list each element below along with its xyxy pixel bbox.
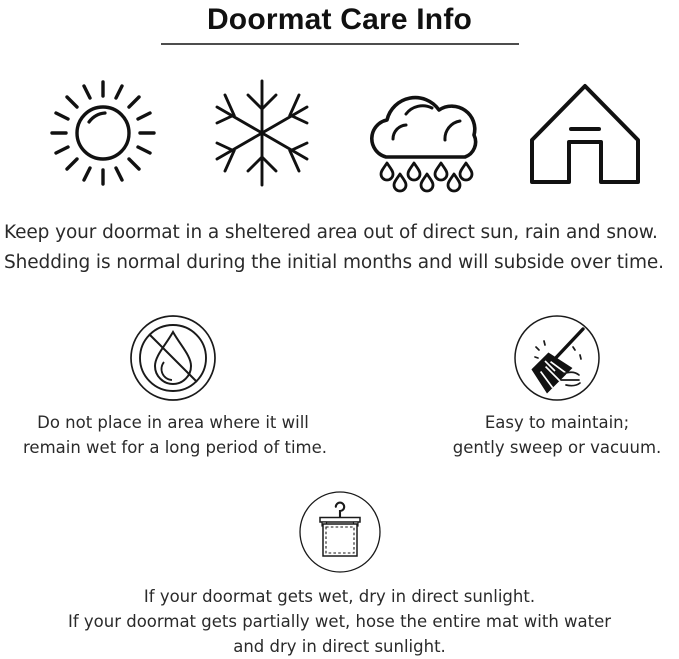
rain-cloud-icon	[362, 77, 484, 189]
hanging-mat-icon	[298, 490, 382, 574]
house-icon	[527, 78, 643, 188]
sweep-caption-line-1: Easy to maintain;	[407, 410, 679, 435]
hanging-mat-icon-wrap	[0, 484, 679, 580]
no-water-caption-line-1: Do not place in area where it will	[23, 410, 323, 435]
sweep-caption: Easy to maintain; gently sweep or vacuum…	[407, 410, 679, 460]
snowflake-icon	[212, 77, 312, 189]
sweep-caption-line-2: gently sweep or vacuum.	[407, 435, 679, 460]
drying-caption-line-1: If your doormat gets wet, dry in direct …	[0, 584, 679, 609]
title-block: Doormat Care Info	[0, 0, 679, 45]
intro-paragraph: Keep your doormat in a sheltered area ou…	[4, 218, 676, 278]
snowflake-icon-cell	[192, 70, 332, 195]
sun-icon	[49, 78, 157, 188]
no-water-caption-line-2: remain wet for a long period of time.	[23, 435, 323, 460]
no-water-icon-wrap	[23, 312, 323, 404]
drying-caption-line-3: and dry in direct sunlight.	[0, 634, 679, 659]
drying-caption-line-2: If your doormat gets partially wet, hose…	[0, 609, 679, 634]
drying-caption: If your doormat gets wet, dry in direct …	[0, 584, 679, 659]
page-title: Doormat Care Info	[0, 2, 679, 38]
rain-cloud-icon-cell	[353, 70, 493, 195]
title-underline-rule	[161, 43, 519, 45]
intro-line-2: Shedding is normal during the initial mo…	[4, 248, 676, 278]
weather-icon-row	[0, 70, 679, 195]
drying-section: If your doormat gets wet, dry in direct …	[0, 484, 679, 659]
care-item-sweep: Easy to maintain; gently sweep or vacuum…	[407, 312, 679, 460]
no-water-icon	[129, 314, 217, 402]
care-item-no-water: Do not place in area where it will remai…	[23, 312, 323, 460]
house-icon-cell	[515, 70, 655, 195]
sun-icon-cell	[33, 70, 173, 195]
no-water-caption: Do not place in area where it will remai…	[23, 410, 323, 460]
care-items-row: Do not place in area where it will remai…	[0, 312, 679, 472]
intro-line-1: Keep your doormat in a sheltered area ou…	[4, 218, 676, 248]
broom-sweep-icon-wrap	[407, 312, 679, 404]
broom-sweep-icon	[513, 314, 601, 402]
